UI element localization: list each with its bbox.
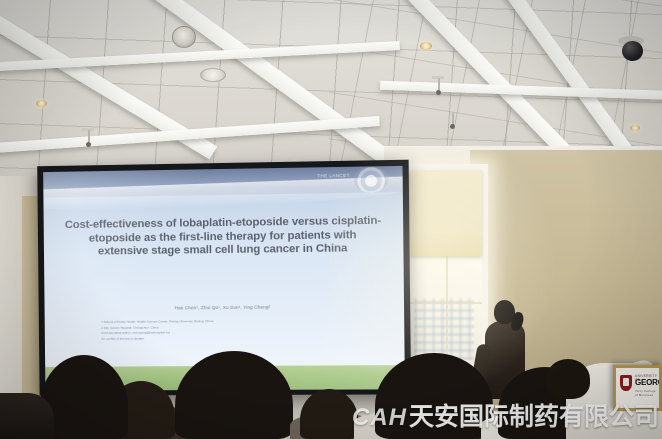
- sign-line-2: GEORGIA: [635, 378, 662, 387]
- fire-sprinkler-icon: [432, 78, 444, 96]
- audience-member-4: [300, 389, 358, 439]
- window-exterior-view: [414, 298, 474, 360]
- slide-authors: Hao Chen¹, Zhui Qu¹, Xu Sun¹, Ying Cheng…: [80, 304, 368, 312]
- ceiling-speaker-icon: [200, 68, 226, 82]
- university-crest-icon: [620, 375, 632, 391]
- slide-header-logo-text: THE LANCET: [317, 173, 349, 179]
- audience-member-3: [175, 351, 293, 439]
- window-glass: [410, 256, 482, 364]
- foreground-table-edge: [0, 393, 54, 439]
- audience-member-5: [375, 353, 493, 439]
- fire-sprinkler-icon: [446, 112, 458, 128]
- window-roller-shade: [410, 170, 482, 256]
- recessed-can-light-icon: [172, 26, 196, 48]
- university-sign: UNIVERSITY OF GEORGIA Terry College of B…: [613, 365, 662, 411]
- downlight-icon: [630, 125, 640, 131]
- downlight-icon: [36, 100, 47, 107]
- downlight-icon: [420, 42, 432, 50]
- fire-sprinkler-icon: [82, 130, 94, 148]
- window: [404, 164, 488, 370]
- sign-line-3: Terry College of Business: [635, 389, 659, 397]
- slide-title: Cost-effectiveness of lobaplatin-etoposi…: [65, 215, 382, 260]
- dome-security-camera-icon: [616, 36, 646, 64]
- window-mullion: [446, 256, 448, 364]
- slide-affiliations: 1 School of Public Health, Health Scienc…: [101, 318, 360, 342]
- presentation-photo: THE LANCET Cost-effectiveness of lobapla…: [0, 0, 662, 439]
- affiliation-line: No conflict of interest to declare: [101, 335, 360, 342]
